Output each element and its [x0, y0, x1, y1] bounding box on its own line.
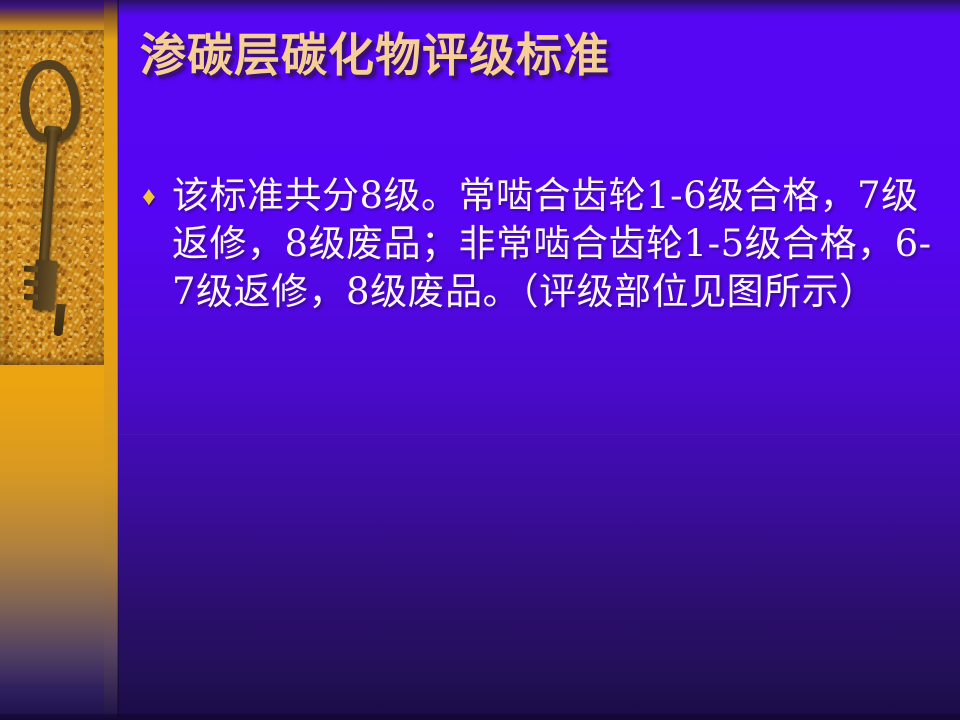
sidebar-divider	[117, 0, 119, 720]
photo-bottom-fade	[0, 356, 104, 365]
list-item-text: 该标准共分8级。常啮合齿轮1-6级合格，7级返修，8级废品；非常啮合齿轮1-5级…	[172, 172, 942, 316]
presentation-slide: 渗碳层碳化物评级标准 ♦ 该标准共分8级。常啮合齿轮1-6级合格，7级返修，8级…	[0, 0, 960, 720]
background-seam	[118, 434, 960, 436]
list-item: ♦ 该标准共分8级。常啮合齿轮1-6级合格，7级返修，8级废品；非常啮合齿轮1-…	[142, 172, 942, 316]
sidebar-gold-strip	[104, 0, 118, 720]
key-tooth	[24, 266, 38, 273]
page-title: 渗碳层碳化物评级标准	[140, 30, 930, 82]
diamond-bullet-icon: ♦	[142, 172, 172, 220]
photo-top-fade	[0, 30, 104, 37]
sidebar-decoration	[0, 0, 118, 720]
slide-background	[0, 0, 960, 720]
key-tooth	[24, 294, 38, 301]
content-body: ♦ 该标准共分8级。常啮合齿轮1-6级合格，7级返修，8级废品；非常啮合齿轮1-…	[142, 172, 942, 316]
slide-bottom-edge	[0, 714, 960, 720]
key-icon	[8, 52, 96, 352]
sidebar-key-photo	[0, 30, 104, 365]
key-tooth	[24, 280, 38, 287]
